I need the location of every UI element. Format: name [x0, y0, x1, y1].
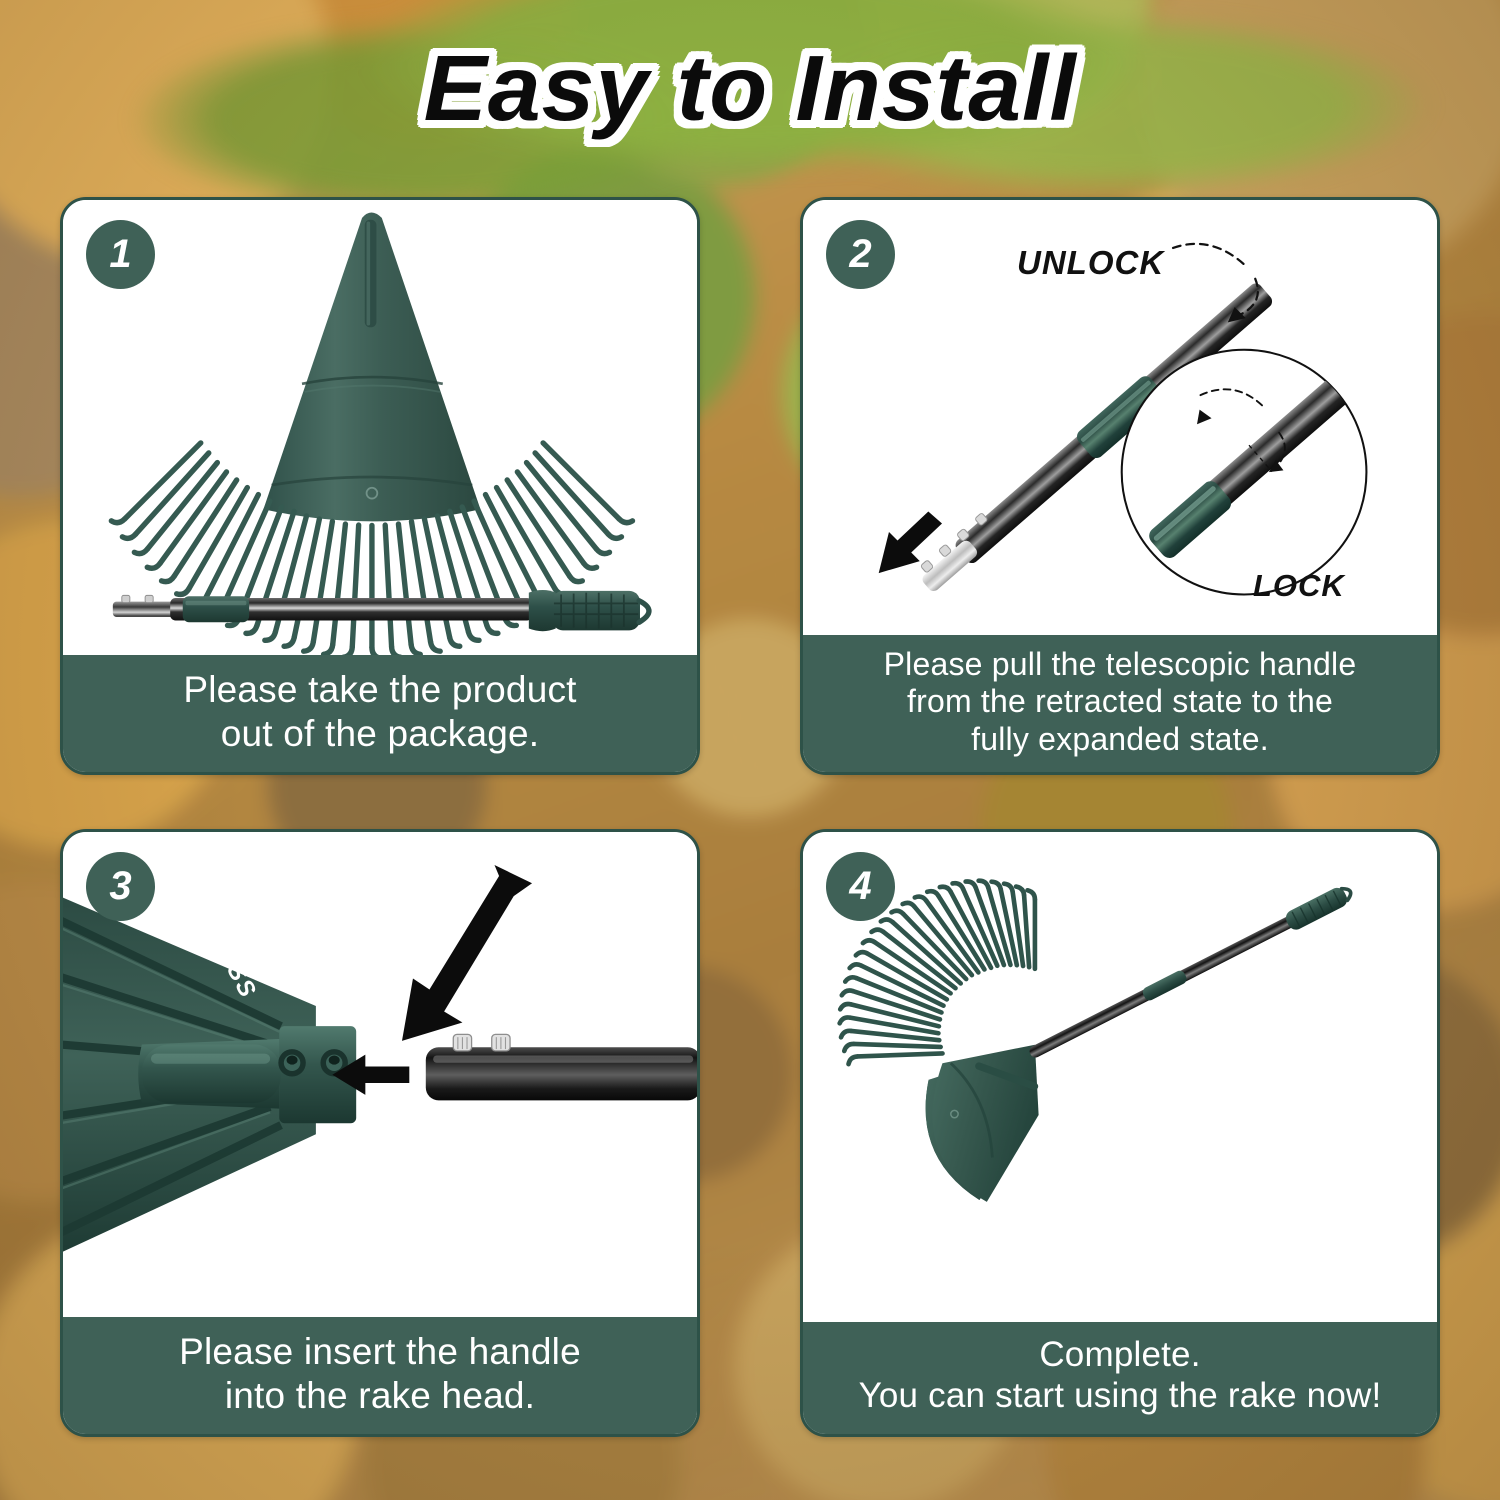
rake-head-body	[263, 213, 480, 522]
unlock-label: UNLOCK	[1017, 244, 1164, 282]
lock-label: LOCK	[1253, 568, 1345, 604]
step-1-caption-line-1: Please take the product	[77, 668, 683, 711]
step-card-2: 2	[800, 197, 1440, 775]
step-2-caption-line-2: from the retracted state to the	[817, 683, 1423, 720]
page-title: Easy to Install	[423, 42, 1076, 135]
step-number-badge-2: 2	[826, 220, 895, 289]
step-card-4: 4	[800, 829, 1440, 1437]
step-2-illustration: 2	[803, 200, 1437, 635]
telescopic-handle	[113, 590, 649, 631]
step-3-caption-line-1: Please insert the handle	[77, 1330, 683, 1373]
title-container: Easy to Install	[0, 42, 1500, 135]
pull-arrow	[879, 511, 942, 573]
step-number-badge-1: 1	[86, 220, 155, 289]
step-3-illustration: 3	[63, 832, 697, 1317]
handle-insert-art	[63, 832, 697, 1317]
step-1-caption-line-2: out of the package.	[77, 712, 683, 755]
step-2-caption: Please pull the telescopic handle from t…	[803, 635, 1437, 772]
step-3-caption: Please insert the handle into the rake h…	[63, 1317, 697, 1434]
rake-head-and-handle-art	[63, 200, 697, 655]
step-4-illustration: 4	[803, 832, 1437, 1322]
step-2-caption-line-3: fully expanded state.	[817, 721, 1423, 758]
step-4-caption-line-1: Complete.	[817, 1335, 1423, 1376]
step-1-caption: Please take the product out of the packa…	[63, 655, 697, 772]
handle-tube	[426, 1034, 697, 1100]
steps-grid: 1	[60, 197, 1440, 1437]
assembled-rake-art	[803, 832, 1437, 1322]
step-4-caption-line-2: You can start using the rake now!	[817, 1376, 1423, 1417]
step-2-caption-line-1: Please pull the telescopic handle	[817, 646, 1423, 683]
step-3-caption-line-2: into the rake head.	[77, 1374, 683, 1417]
step-card-1: 1	[60, 197, 700, 775]
step-number-badge-4: 4	[826, 852, 895, 921]
step-4-caption: Complete. You can start using the rake n…	[803, 1322, 1437, 1434]
lock-detail-inset	[1122, 350, 1382, 595]
step-1-illustration: 1	[63, 200, 697, 655]
press-arrow	[402, 865, 532, 1041]
step-number-badge-3: 3	[86, 852, 155, 921]
assembled-shaft	[1026, 882, 1355, 1063]
step-card-3: 3	[60, 829, 700, 1437]
rake-head-assembled	[926, 1045, 1040, 1202]
